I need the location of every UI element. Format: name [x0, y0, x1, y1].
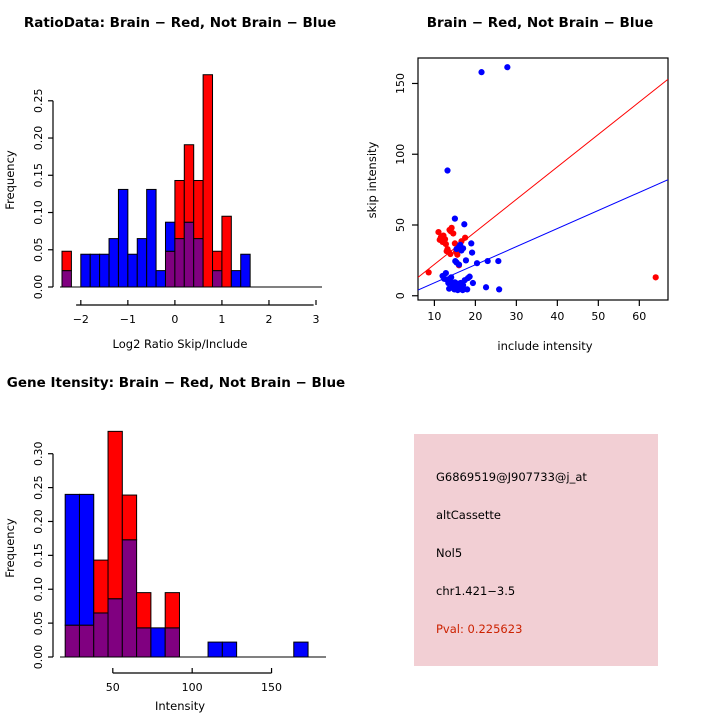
histogram-bar-overlap	[79, 625, 93, 657]
scatter-point	[469, 249, 475, 255]
scatter-title: Brain − Red, Not Brain − Blue	[427, 15, 653, 31]
scatter-svg: Brain − Red, Not Brain − Blue include in…	[360, 0, 720, 360]
histogram-bar-blue	[79, 494, 93, 625]
scatter-xlabel: include intensity	[497, 339, 592, 353]
scatter-point	[448, 274, 454, 280]
tick-label: 50	[591, 310, 605, 323]
scatter-point	[446, 286, 452, 292]
scatter-ylabel: skip intensity	[365, 141, 379, 218]
ratio-histogram-bars	[62, 75, 250, 287]
panel-gene-histogram: Gene Itensity: Brain − Red, Not Brain − …	[0, 360, 360, 720]
scatter-point	[461, 221, 467, 227]
histogram-bar-red	[194, 180, 203, 238]
histogram-bar-red	[184, 145, 193, 222]
scatter-point	[495, 258, 501, 264]
scatter-point	[444, 167, 450, 173]
histogram-bar-red	[165, 593, 179, 628]
tick-label: 60	[632, 310, 646, 323]
tick-label: 2	[265, 313, 272, 326]
gene-symbol-text: Nol5	[436, 546, 462, 560]
pval-text: Pval: 0.225623	[436, 622, 522, 636]
histogram-bar-red	[222, 216, 231, 287]
gene-info-panel: G6869519@J907733@j_at altCassette Nol5 c…	[414, 434, 658, 666]
histogram-bar-red	[108, 431, 122, 598]
scatter-point	[463, 257, 469, 263]
scatter-point	[449, 225, 455, 231]
histogram-bar-overlap	[184, 222, 193, 287]
scatter-point	[467, 274, 473, 280]
panel-ratio-histogram: RatioData: Brain − Red, Not Brain − Blue…	[0, 0, 360, 360]
tick-label: 0.05	[32, 611, 45, 636]
tick-label: 0.15	[32, 163, 45, 188]
histogram-bar-red	[213, 251, 222, 270]
histogram-bar-blue	[147, 189, 156, 287]
tick-label: 3	[313, 313, 320, 326]
scatter-point	[462, 235, 468, 241]
scatter-point	[470, 280, 476, 286]
histogram-bar-blue	[128, 254, 137, 287]
tick-label: 0.25	[32, 89, 45, 114]
event-type-text: altCassette	[436, 508, 501, 522]
histogram-bar-blue	[109, 239, 118, 287]
histogram-bar-blue	[222, 642, 236, 657]
ratio-histogram-title: RatioData: Brain − Red, Not Brain − Blue	[24, 15, 336, 31]
scatter-point	[453, 246, 459, 252]
figure-canvas: RatioData: Brain − Red, Not Brain − Blue…	[0, 0, 720, 720]
scatter-point	[456, 262, 462, 268]
histogram-bar-overlap	[165, 251, 174, 287]
gene-histogram-bars	[65, 431, 308, 657]
tick-label: 150	[394, 73, 407, 94]
histogram-bar-red	[203, 75, 212, 287]
histogram-bar-blue	[137, 239, 146, 287]
histogram-bar-blue	[151, 628, 165, 657]
tick-label: 30	[509, 310, 523, 323]
histogram-bar-blue	[118, 189, 127, 287]
tick-label: 0.05	[32, 238, 45, 262]
histogram-bar-blue	[208, 642, 222, 657]
gene-histogram-title: Gene Itensity: Brain − Red, Not Brain − …	[7, 375, 345, 391]
histogram-bar-overlap	[165, 628, 179, 657]
histogram-bar-blue	[100, 254, 109, 287]
histogram-bar-blue	[231, 271, 240, 287]
tick-label: 0	[394, 292, 407, 299]
scatter-point	[496, 286, 502, 292]
histogram-bar-overlap	[108, 599, 122, 657]
scatter-axes: 050100150102030405060	[394, 73, 646, 323]
tick-label: 0.10	[32, 200, 45, 225]
gene-histogram-xlabel: Intensity	[155, 699, 205, 713]
histogram-bar-blue	[241, 254, 250, 287]
ratio-histogram-ylabel: Frequency	[3, 150, 17, 210]
gene-histogram-ylabel: Frequency	[3, 518, 17, 578]
tick-label: 0.20	[32, 126, 45, 151]
tick-label: −1	[120, 313, 136, 326]
histogram-bar-overlap	[175, 239, 184, 287]
tick-label: 100	[394, 144, 407, 165]
histogram-bar-overlap	[62, 271, 71, 287]
locus-text: chr1.421−3.5	[436, 584, 515, 598]
scatter-point	[485, 258, 491, 264]
scatter-point	[452, 216, 458, 222]
tick-label: 20	[468, 310, 482, 323]
tick-label: 0.20	[32, 509, 45, 534]
histogram-bar-overlap	[94, 613, 108, 657]
scatter-point	[474, 260, 480, 266]
scatter-point	[504, 64, 510, 70]
scatter-point	[653, 274, 659, 280]
tick-label: 150	[261, 681, 282, 694]
histogram-bar-red	[175, 180, 184, 238]
tick-label: 40	[550, 310, 564, 323]
tick-label: 0.00	[32, 275, 45, 300]
tick-label: 0.25	[32, 475, 45, 500]
histogram-bar-overlap	[122, 540, 136, 657]
tick-label: 50	[106, 681, 120, 694]
histogram-bar-red	[137, 593, 151, 628]
histogram-bar-blue	[90, 254, 99, 287]
scatter-point	[468, 240, 474, 246]
tick-label: 0.10	[32, 577, 45, 602]
ratio-histogram-xlabel: Log2 Ratio Skip/Include	[113, 337, 248, 351]
scatter-point	[443, 270, 449, 276]
scatter-point	[464, 286, 470, 292]
tick-label: 10	[427, 310, 441, 323]
histogram-bar-blue	[81, 254, 90, 287]
histogram-bar-overlap	[137, 628, 151, 657]
histogram-bar-red	[62, 251, 71, 270]
scatter-point	[426, 269, 432, 275]
scatter-point	[460, 245, 466, 251]
tick-label: 0	[171, 313, 178, 326]
scatter-point	[447, 251, 453, 257]
histogram-bar-overlap	[213, 271, 222, 287]
histogram-bar-blue	[165, 222, 174, 251]
histogram-bar-blue	[156, 271, 165, 287]
tick-label: 100	[182, 681, 203, 694]
tick-label: 50	[394, 218, 407, 232]
tick-label: 0.00	[32, 645, 45, 670]
scatter-point	[483, 284, 489, 290]
tick-label: −2	[73, 313, 89, 326]
tick-label: 1	[218, 313, 225, 326]
histogram-bar-blue	[65, 494, 79, 625]
histogram-bar-red	[94, 560, 108, 613]
tick-label: 0.15	[32, 543, 45, 568]
histogram-bar-blue	[294, 642, 308, 657]
histogram-bar-overlap	[65, 625, 79, 657]
probe-id-text: G6869519@J907733@j_at	[436, 470, 587, 484]
panel-scatter: Brain − Red, Not Brain − Blue include in…	[360, 0, 720, 360]
histogram-bar-overlap	[194, 239, 203, 287]
scatter-point	[450, 230, 456, 236]
ratio-histogram-svg: RatioData: Brain − Red, Not Brain − Blue…	[0, 0, 360, 360]
scatter-point	[478, 69, 484, 75]
histogram-bar-red	[122, 495, 136, 540]
gene-histogram-svg: Gene Itensity: Brain − Red, Not Brain − …	[0, 360, 360, 720]
tick-label: 0.30	[32, 441, 45, 466]
